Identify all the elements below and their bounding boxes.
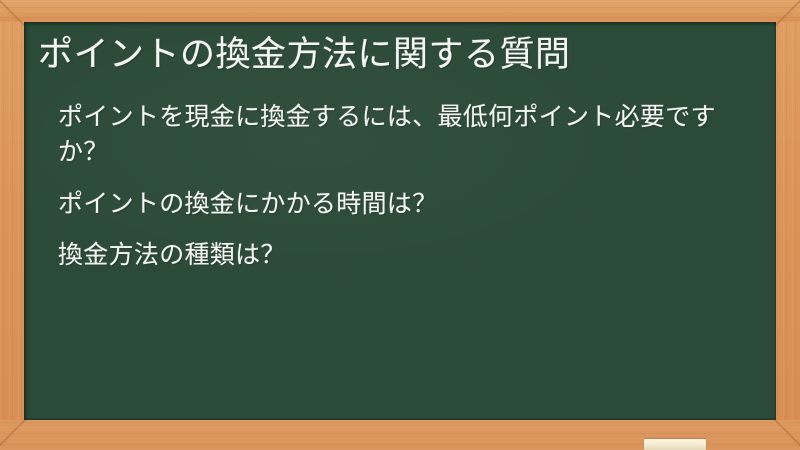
question-list: ポイントを現金に換金するには、最低何ポイント必要ですか？ ポイントの換金にかかる… xyxy=(38,99,758,273)
slide-title: ポイントの換金方法に関する質問 xyxy=(38,34,758,77)
question-item: ポイントを現金に換金するには、最低何ポイント必要ですか？ xyxy=(58,99,758,170)
question-item: ポイントの換金にかかる時間は？ xyxy=(58,186,758,222)
frame-top-rail xyxy=(0,0,800,22)
chalk-stick-icon xyxy=(644,439,706,450)
chalkboard-content: ポイントの換金方法に関する質問 ポイントを現金に換金するには、最低何ポイント必要… xyxy=(24,22,776,273)
question-item: 換金方法の種類は？ xyxy=(58,237,758,273)
chalkboard-surface: ポイントの換金方法に関する質問 ポイントを現金に換金するには、最低何ポイント必要… xyxy=(24,22,776,420)
slide-stage: ポイントの換金方法に関する質問 ポイントを現金に換金するには、最低何ポイント必要… xyxy=(0,0,800,450)
